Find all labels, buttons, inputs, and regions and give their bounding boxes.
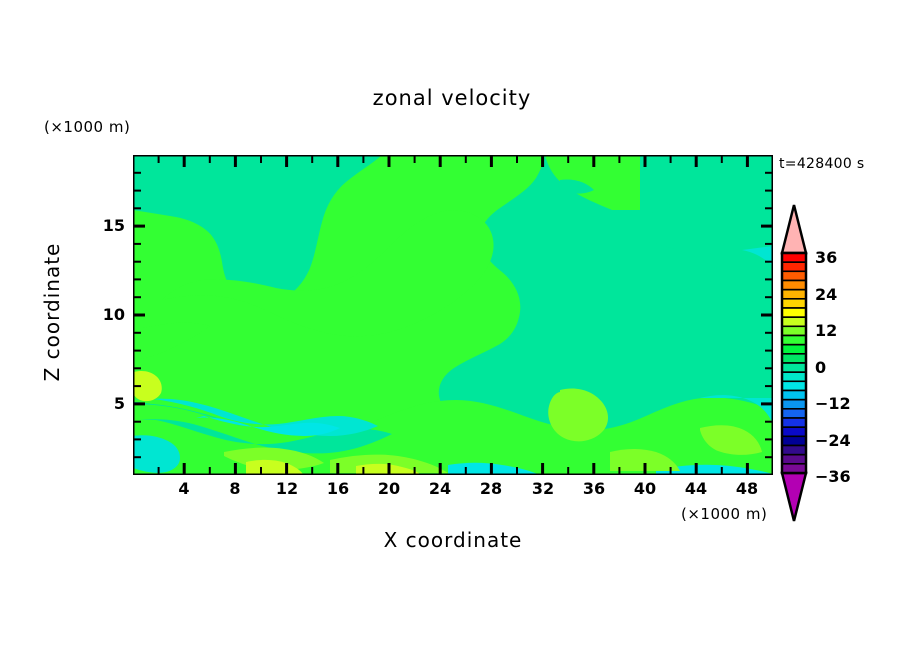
colorbar-tick-label: 36: [815, 248, 837, 267]
colorbar-tick-label: 0: [815, 358, 826, 377]
x-tick-label: 28: [471, 479, 511, 498]
y-tick-label: 15: [85, 216, 125, 235]
contour-field: [133, 155, 773, 475]
colorbar-tick-label: 24: [815, 285, 837, 304]
figure-canvas: zonal velocity (×1000 m) (×1000 m) X coo…: [0, 0, 904, 654]
y-tick-label: 5: [85, 394, 125, 413]
x-tick-label: 32: [523, 479, 563, 498]
x-tick-label: 24: [420, 479, 460, 498]
colorbar-tick-label: −24: [815, 431, 851, 450]
x-tick-label: 8: [215, 479, 255, 498]
x-tick-label: 16: [318, 479, 358, 498]
x-tick-label: 20: [369, 479, 409, 498]
y-tick-label: 10: [85, 305, 125, 324]
x-tick-label: 44: [676, 479, 716, 498]
contour-plot-area: [0, 0, 904, 654]
colorbar[interactable]: [782, 205, 806, 521]
x-tick-label: 48: [727, 479, 767, 498]
colorbar-tick-label: −12: [815, 394, 851, 413]
colorbar-tick-label: 12: [815, 321, 837, 340]
colorbar-tick-label: −36: [815, 467, 851, 486]
x-tick-label: 40: [625, 479, 665, 498]
x-tick-label: 4: [164, 479, 204, 498]
x-tick-label: 36: [574, 479, 614, 498]
x-tick-label: 12: [267, 479, 307, 498]
